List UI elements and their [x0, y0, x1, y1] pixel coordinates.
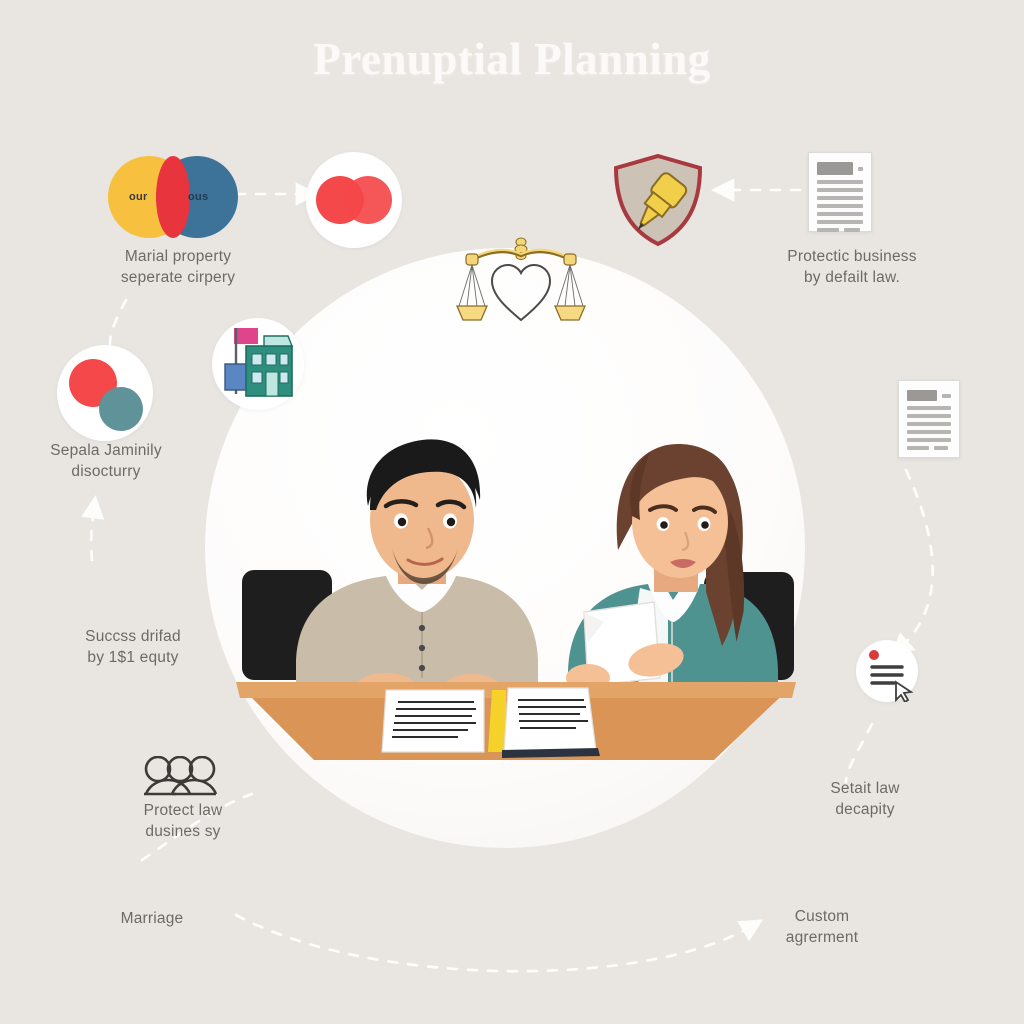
notification-dot — [869, 650, 879, 660]
label-marriage: Marriage — [82, 908, 222, 929]
page-title: Prenuptial Planning — [0, 33, 1024, 85]
venn-diagram-icon: our ous — [108, 156, 238, 238]
venn-left-label: our — [129, 191, 148, 203]
shield-with-pen-icon — [608, 152, 708, 248]
label-success-equity: Succss drifad by 1$1 equty — [48, 626, 218, 668]
label-estate-law-capacity: Setait law decapity — [790, 778, 940, 820]
label-custom-agreement: Custom agrerment — [752, 906, 892, 948]
label-protect-law-business: Protect law dusines sy — [98, 800, 268, 842]
infographic-canvas: Prenuptial Planning — [0, 0, 1024, 1024]
venn-right-label: ous — [188, 191, 208, 203]
checklist-with-cursor-icon[interactable] — [856, 640, 918, 702]
two-overlapping-red-circles-icon — [306, 152, 402, 248]
label-marital-property: Marial property seperate cirpery — [88, 246, 268, 288]
document-icon — [808, 152, 872, 232]
scales-of-justice-with-heart-icon — [456, 232, 586, 332]
label-protect-business-default-law: Protectic business by defailt law. — [762, 246, 942, 288]
red-teal-circles-icon — [57, 345, 153, 441]
people-group-icon — [142, 756, 218, 800]
document-icon-secondary — [898, 380, 960, 458]
cursor-arrow-icon — [896, 682, 911, 702]
label-separate-family-discovery: Sepala Jaminily disocturry — [22, 440, 190, 482]
couple-reviewing-documents-illustration — [236, 360, 796, 760]
office-building-icon — [212, 318, 304, 410]
